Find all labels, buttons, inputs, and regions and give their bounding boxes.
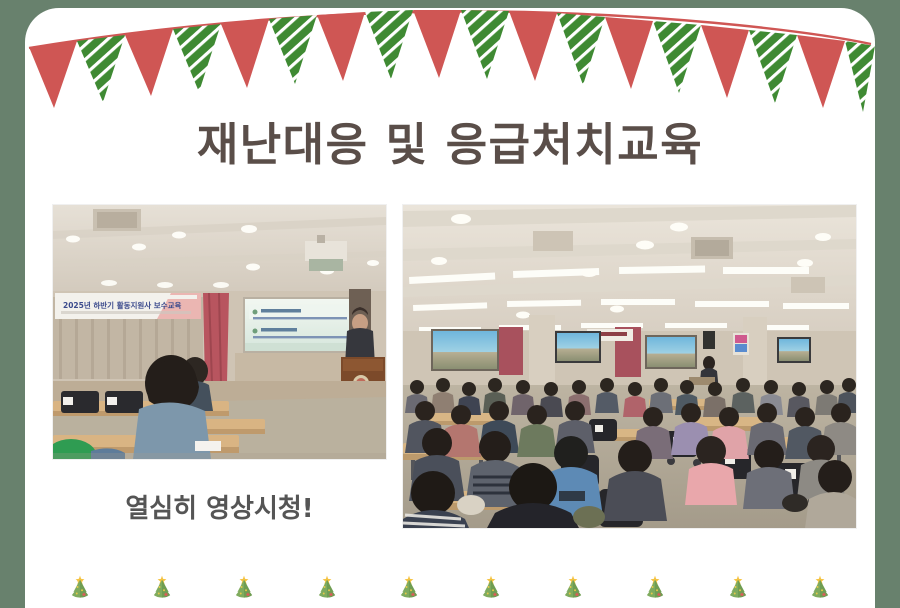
photo-lecture-hall-presenter: 2025년 하반기 활동지원사 보수교육 bbox=[53, 205, 386, 459]
christmas-tree-icon bbox=[314, 574, 340, 600]
christmas-tree-icon bbox=[396, 574, 422, 600]
christmas-tree-icon bbox=[725, 574, 751, 600]
christmas-tree-icon bbox=[642, 574, 668, 600]
photo-left-graphic: 2025년 하반기 활동지원사 보수교육 bbox=[53, 205, 386, 459]
bunting-flags bbox=[29, 10, 875, 112]
poster-card: 재난대응 및 응급처치교육 bbox=[25, 8, 875, 608]
christmas-tree-row bbox=[25, 574, 875, 608]
page-title: 재난대응 및 응급처치교육 bbox=[25, 108, 875, 173]
photo-right-graphic bbox=[403, 205, 856, 528]
svg-text:2025년 하반기 활동지원사 보수교육: 2025년 하반기 활동지원사 보수교육 bbox=[63, 300, 182, 310]
christmas-tree-icon bbox=[67, 574, 93, 600]
christmas-tree-icon bbox=[560, 574, 586, 600]
photo-auditorium-audience bbox=[403, 205, 856, 528]
pennant-banner-svg bbox=[25, 8, 875, 116]
christmas-tree-icon bbox=[149, 574, 175, 600]
christmas-tree-icon bbox=[807, 574, 833, 600]
poster-root: 재난대응 및 응급처치교육 bbox=[0, 0, 900, 600]
bunting-string bbox=[29, 11, 871, 48]
christmas-tree-icon bbox=[231, 574, 257, 600]
photo-caption: 열심히 영상시청! bbox=[53, 488, 386, 525]
pennant-banner bbox=[25, 8, 875, 116]
christmas-tree-icon bbox=[478, 574, 504, 600]
